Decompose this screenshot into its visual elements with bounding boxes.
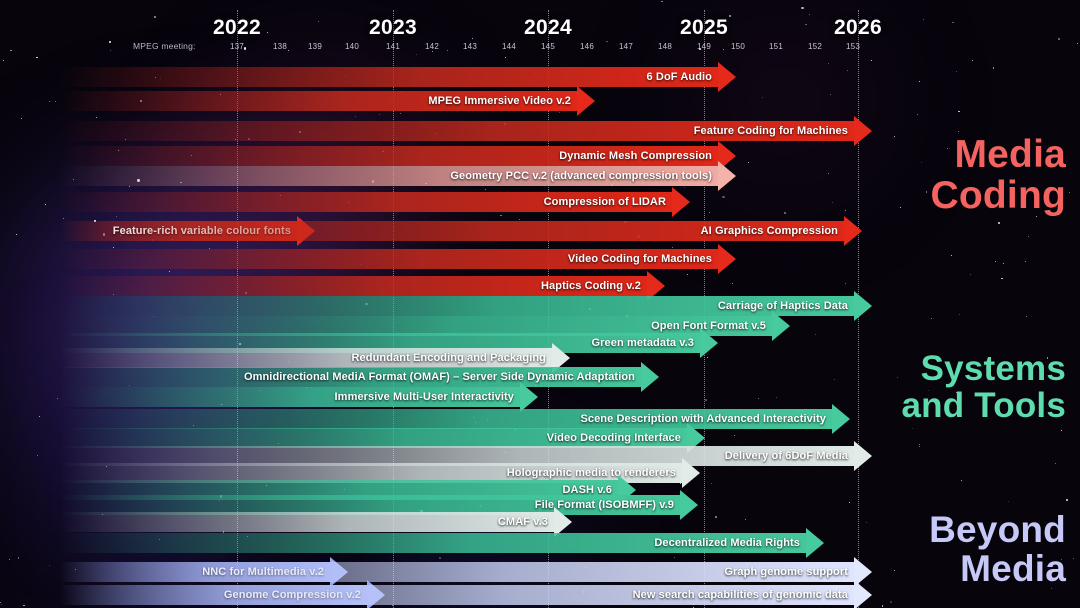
bar-label: 6 DoF Audio — [647, 71, 712, 83]
bar-label: Dynamic Mesh Compression — [559, 150, 712, 162]
bar-label: Feature Coding for Machines — [694, 125, 848, 137]
category-label-line2: Coding — [931, 175, 1067, 216]
roadmap-bar[interactable]: Decentralized Media Rights — [60, 533, 824, 553]
bar-label: Omnidirectional MediA Format (OMAF) – Se… — [244, 371, 635, 383]
meeting-number: 142 — [425, 42, 439, 51]
year-label: 2024 — [524, 16, 572, 40]
roadmap-bar[interactable]: Carriage of Haptics Data — [60, 296, 872, 316]
bar-label: Redundant Encoding and Packaging — [352, 352, 547, 364]
meeting-number: 143 — [463, 42, 477, 51]
roadmap-bar[interactable]: 6 DoF Audio — [60, 67, 736, 87]
bar-label: Decentralized Media Rights — [654, 537, 800, 549]
roadmap-bar[interactable]: Scene Description with Advanced Interact… — [60, 409, 850, 429]
year-label: 2026 — [834, 16, 882, 40]
bar-label: Graph genome support — [724, 566, 848, 578]
meeting-number: 152 — [808, 42, 822, 51]
bar-label: Green metadata v.3 — [592, 337, 694, 349]
bar-arrow-head — [700, 328, 718, 358]
meeting-number: 139 — [308, 42, 322, 51]
meeting-number: 137 — [230, 42, 244, 51]
bar-arrow-head — [718, 244, 736, 274]
roadmap-bar[interactable]: Haptics Coding v.2 — [60, 276, 665, 296]
year-label: 2025 — [680, 16, 728, 40]
bar-arrow-head — [577, 86, 595, 116]
meeting-number: 144 — [502, 42, 516, 51]
roadmap-bar[interactable]: Video Decoding Interface — [60, 428, 705, 448]
roadmap-bar[interactable]: Omnidirectional MediA Format (OMAF) – Se… — [60, 367, 659, 387]
year-label: 2022 — [213, 16, 261, 40]
bar-arrow-head — [680, 490, 698, 520]
category-label-media-coding: Media Coding — [931, 134, 1067, 217]
bar-label: Compression of LIDAR — [544, 196, 666, 208]
bar-label: Holographic media to renderers — [507, 467, 676, 479]
bar-body — [60, 512, 554, 532]
category-label-line1: Beyond — [929, 510, 1066, 549]
bar-arrow-head — [832, 404, 850, 434]
bar-arrow-head — [844, 216, 862, 246]
meeting-number: 148 — [658, 42, 672, 51]
bar-label: Geometry PCC v.2 (advanced compression t… — [450, 170, 712, 182]
roadmap-bar[interactable]: CMAF v.3 — [60, 512, 572, 532]
category-label-line1: Media — [931, 134, 1067, 175]
roadmap-bar[interactable]: Dynamic Mesh Compression — [60, 146, 736, 166]
roadmap-bar[interactable]: Redundant Encoding and Packaging — [60, 348, 570, 368]
meeting-number: 153 — [846, 42, 860, 51]
roadmap-bar[interactable]: New search capabilities of genomic data — [60, 585, 872, 605]
roadmap-bar[interactable]: Geometry PCC v.2 (advanced compression t… — [60, 166, 736, 186]
meeting-number: 145 — [541, 42, 555, 51]
bar-body — [60, 67, 718, 87]
roadmap-bar[interactable]: Feature Coding for Machines — [60, 121, 872, 141]
bar-arrow-head — [641, 362, 659, 392]
bar-arrow-head — [854, 441, 872, 471]
bar-label: Haptics Coding v.2 — [541, 280, 641, 292]
roadmap-bar[interactable]: Graph genome support — [60, 562, 872, 582]
roadmap-bar[interactable]: Immersive Multi-User Interactivity — [60, 387, 538, 407]
roadmap-bar[interactable]: MPEG Immersive Video v.2 — [60, 91, 595, 111]
bar-arrow-head — [672, 187, 690, 217]
bar-arrow-head — [806, 528, 824, 558]
category-label-line2: Media — [929, 549, 1066, 588]
bar-arrow-head — [718, 62, 736, 92]
bar-label: Video Decoding Interface — [547, 432, 681, 444]
category-label-systems-tools: Systems and Tools — [902, 350, 1066, 424]
bar-label: AI Graphics Compression — [701, 225, 838, 237]
mpeg-meeting-axis-label: MPEG meeting: — [133, 41, 196, 51]
meeting-number: 147 — [619, 42, 633, 51]
category-label-line2: and Tools — [902, 387, 1066, 424]
bar-label: CMAF v.3 — [498, 516, 548, 528]
meeting-number: 146 — [580, 42, 594, 51]
timeline-header: MPEG meeting: 20222023202420252026 13713… — [0, 0, 1080, 58]
year-label: 2023 — [369, 16, 417, 40]
roadmap-bar[interactable]: Compression of LIDAR — [60, 192, 690, 212]
bar-label: Video Coding for Machines — [568, 253, 712, 265]
bar-label: MPEG Immersive Video v.2 — [428, 95, 571, 107]
roadmap-canvas: MPEG meeting: 20222023202420252026 13713… — [0, 0, 1080, 608]
bar-arrow-head — [854, 116, 872, 146]
bar-arrow-head — [854, 291, 872, 321]
bar-arrow-head — [682, 458, 700, 488]
bar-arrow-head — [772, 311, 790, 341]
meeting-number: 150 — [731, 42, 745, 51]
roadmap-bar[interactable]: AI Graphics Compression — [60, 221, 862, 241]
bar-arrow-head — [520, 382, 538, 412]
category-label-line1: Systems — [902, 350, 1066, 387]
roadmap-bar[interactable]: Video Coding for Machines — [60, 249, 736, 269]
bar-arrow-head — [718, 161, 736, 191]
bar-label: Immersive Multi-User Interactivity — [335, 391, 514, 403]
meeting-number: 151 — [769, 42, 783, 51]
meeting-number: 140 — [345, 42, 359, 51]
bar-label: Delivery of 6DoF Media — [725, 450, 848, 462]
meeting-number: 141 — [386, 42, 400, 51]
meeting-number: 138 — [273, 42, 287, 51]
category-label-beyond-media: Beyond Media — [929, 510, 1066, 588]
bar-arrow-head — [854, 580, 872, 608]
meeting-number: 149 — [697, 42, 711, 51]
bar-label: New search capabilities of genomic data — [633, 589, 848, 601]
